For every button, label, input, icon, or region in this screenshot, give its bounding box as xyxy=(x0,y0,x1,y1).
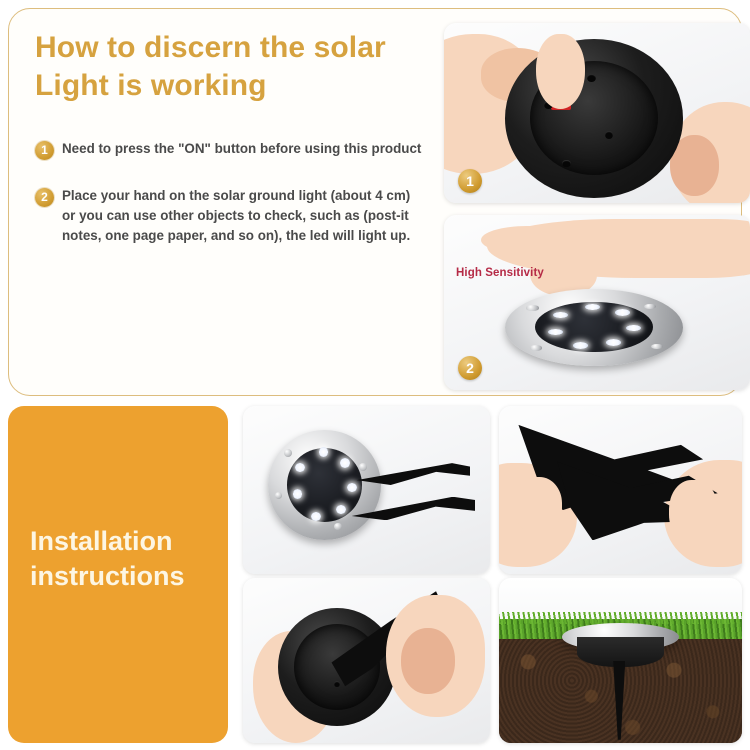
led-light xyxy=(319,447,329,456)
rim-screw xyxy=(275,492,283,500)
photo-2-number-badge-icon: 2 xyxy=(458,356,482,380)
solar-light-steel-disc xyxy=(505,289,682,366)
right-fingers-shape xyxy=(669,480,718,544)
rim-screw xyxy=(530,345,542,350)
pressing-thumb-shape xyxy=(536,34,585,110)
photo-1-number-badge-icon: 1 xyxy=(458,169,482,193)
steps-list: 1 Need to press the "ON" button before u… xyxy=(35,139,425,272)
housing-post-dot xyxy=(587,74,596,82)
led-light xyxy=(553,312,568,319)
right-fingers-shape xyxy=(401,628,455,694)
step-item-1: 1 Need to press the "ON" button before u… xyxy=(35,139,425,160)
light-housing-black-disc xyxy=(505,39,682,197)
photo-2-scene xyxy=(444,215,750,390)
led-light xyxy=(293,489,303,498)
photo-light-and-stakes xyxy=(243,406,490,574)
high-sensitivity-label: High Sensitivity xyxy=(456,267,544,279)
led-light xyxy=(573,342,588,349)
left-fingers-shape xyxy=(514,477,563,534)
number-badge-1-icon: 1 xyxy=(35,141,54,160)
photo-insert-stake-into-housing xyxy=(243,578,490,743)
installation-instructions-label: Installation instructions xyxy=(30,524,210,593)
photo-6-scene xyxy=(499,578,742,743)
solar-light-steel-disc xyxy=(268,430,382,541)
installation-label-line1: Installation xyxy=(30,524,210,559)
step-1-text: Need to press the "ON" button before usi… xyxy=(62,139,421,159)
led-light xyxy=(347,483,357,492)
rim-screw xyxy=(651,344,663,349)
step-item-2: 2 Place your hand on the solar ground li… xyxy=(35,186,425,246)
page-title: How to discern the solar Light is workin… xyxy=(35,29,435,105)
how-to-discern-card: How to discern the solar Light is workin… xyxy=(8,8,742,396)
photo-high-sensitivity: High Sensitivity 2 xyxy=(444,215,750,390)
led-light xyxy=(295,463,305,472)
installation-label-line2: instructions xyxy=(30,559,210,594)
product-infographic: How to discern the solar Light is workin… xyxy=(0,0,750,750)
led-light xyxy=(606,339,621,346)
photo-assembling-stakes xyxy=(499,406,742,574)
photo-5-scene xyxy=(243,578,490,743)
photo-installed-in-ground xyxy=(499,578,742,743)
led-light xyxy=(615,309,630,316)
page-title-line2: Light is working xyxy=(35,67,435,105)
led-light xyxy=(311,512,321,521)
rim-screw xyxy=(644,304,656,309)
page-title-line1: How to discern the solar xyxy=(35,29,435,67)
rim-screw xyxy=(359,463,367,471)
led-light xyxy=(336,505,346,514)
rim-screw xyxy=(284,449,292,457)
photo-4-scene xyxy=(499,406,742,574)
installation-instructions-panel: Installation instructions xyxy=(8,406,228,743)
photo-3-scene xyxy=(243,406,490,574)
rim-screw xyxy=(526,305,538,310)
photo-1-scene xyxy=(444,23,750,203)
step-2-text: Place your hand on the solar ground ligh… xyxy=(62,186,425,246)
photo-press-on-button: 1 xyxy=(444,23,750,203)
led-light xyxy=(548,329,563,336)
led-light xyxy=(626,325,641,332)
number-badge-2-icon: 2 xyxy=(35,188,54,207)
led-light xyxy=(340,458,350,467)
rim-screw xyxy=(334,523,342,531)
